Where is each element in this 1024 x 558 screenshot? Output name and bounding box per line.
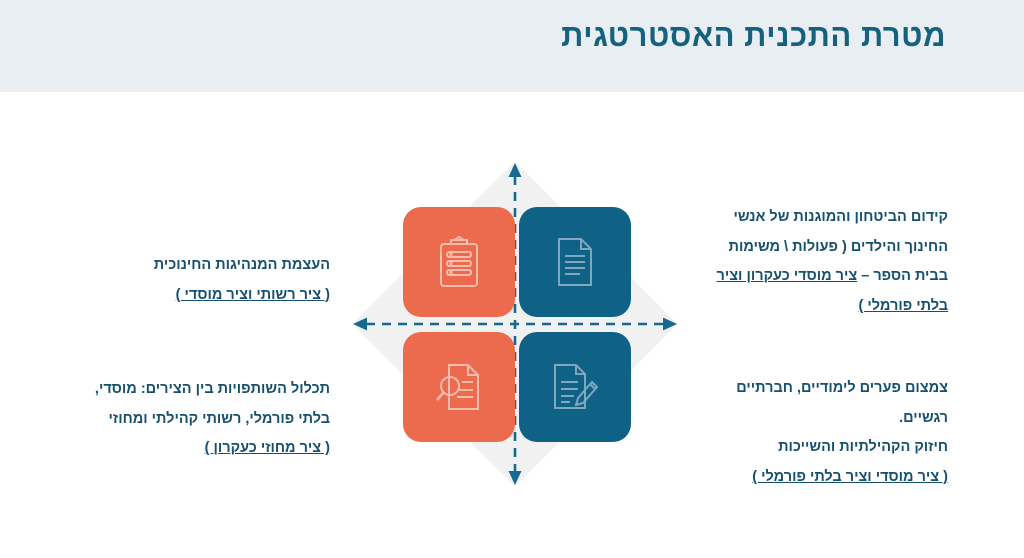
text-block-right-bottom: צמצום פערים לימודיים, חברתיים רגשיים. חי… (693, 374, 948, 493)
quadrant-top-left[interactable] (403, 207, 515, 317)
clipboard-checklist-icon (437, 236, 481, 288)
text-block-right-top: קידום הביטחון והמוגנות של אנשי החינוך וה… (693, 203, 948, 322)
right-top-line-3-underlined: ציר מוסדי כעקרון וציר (717, 268, 858, 284)
right-bottom-line-2: רגשיים. (693, 404, 948, 434)
right-bottom-line-1: צמצום פערים לימודיים, חברתיים (693, 374, 948, 404)
quadrant-bottom-left[interactable] (403, 332, 515, 442)
quadrant-bottom-right[interactable] (519, 332, 631, 442)
left-top-line-2-underlined: ( ציר רשותי וציר מוסדי ) (75, 281, 330, 311)
text-block-left-top: העצמת המנהיגות החינוכית ( ציר רשותי וציר… (75, 251, 330, 310)
right-top-line-3: בבית הספר – ציר מוסדי כעקרון וציר (693, 262, 948, 292)
left-bottom-line-1: תכלול השותפויות בין הצירים: מוסדי, (75, 375, 330, 405)
text-block-left-bottom: תכלול השותפויות בין הצירים: מוסדי, בלתי … (75, 375, 330, 464)
quadrant-diagram (352, 162, 678, 486)
left-bottom-line-2: בלתי פורמלי, רשותי קהילתי ומחוזי (75, 405, 330, 435)
right-bottom-line-4-underlined: ( ציר מוסדי וציר בלתי פורמלי ) (693, 463, 948, 493)
right-bottom-line-3: חיזוק הקהילתיות והשייכות (693, 433, 948, 463)
right-top-line-1: קידום הביטחון והמוגנות של אנשי (693, 203, 948, 233)
document-lines-icon (554, 237, 596, 287)
quadrant-top-right[interactable] (519, 207, 631, 317)
left-bottom-line-3-underlined: ( ציר מחוזי כעקרון ) (75, 434, 330, 464)
right-top-line-4-underlined: בלתי פורמלי ) (693, 292, 948, 322)
left-top-line-1: העצמת המנהיגות החינוכית (75, 251, 330, 281)
document-pencil-icon (550, 362, 600, 412)
right-top-line-3-prefix: בבית הספר – (857, 268, 948, 284)
page-title: מטרת התכנית האסטרטגית (66, 16, 946, 56)
slide-canvas: מטרת התכנית האסטרטגית (0, 0, 1024, 558)
document-magnifier-icon (435, 362, 483, 412)
right-top-line-2: החינוך והילדים ( פעולות \ משימות (693, 233, 948, 263)
